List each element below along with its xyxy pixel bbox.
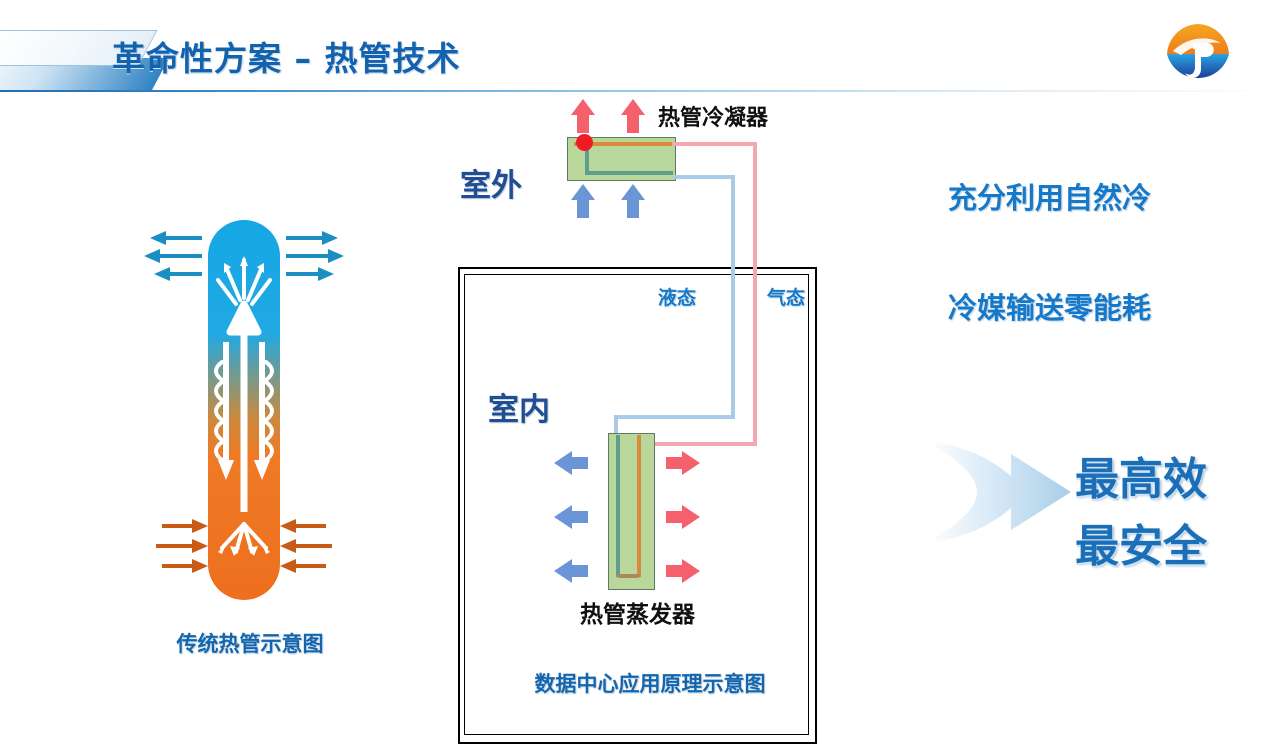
evaporator-gas-pipe	[637, 435, 641, 577]
liquid-pipe-lower-run	[614, 415, 735, 419]
conclusion-arrow-icon	[925, 432, 1075, 552]
conclusion-line-1: 最高效	[1075, 443, 1207, 507]
center-diagram-caption: 数据中心应用原理示意图	[440, 668, 860, 698]
gas-state-label: 气态	[767, 283, 805, 310]
traditional-heat-pipe-figure	[130, 212, 370, 612]
benefit-point-2: 冷媒输送零能耗	[948, 285, 1151, 327]
condenser-inlet-marker	[576, 134, 593, 151]
liquid-state-label: 液态	[658, 283, 696, 310]
liquid-pipe-top-run	[673, 175, 735, 179]
gas-pipe-vertical-outer	[753, 142, 757, 446]
evaporator-cold-out-arrows-icon	[550, 445, 606, 595]
datacenter-principle-diagram: 热管冷凝器 室外 室内 液态 气态 热管蒸发器	[440, 90, 860, 670]
slide-header: 革命性方案 – 热管技术	[0, 0, 1280, 95]
condenser-hot-arrows-icon	[565, 95, 665, 135]
company-globe-logo	[1163, 21, 1233, 91]
condenser-cold-arrows-icon	[565, 182, 665, 220]
evaporator-hot-in-arrows-icon	[656, 445, 712, 595]
conclusion-line-2: 最安全	[1075, 510, 1207, 574]
evaporator-liquid-pipe	[616, 435, 620, 577]
benefit-point-1: 充分利用自然冷	[948, 175, 1151, 217]
outdoor-label: 室外	[460, 160, 522, 205]
page-title: 革命性方案 – 热管技术	[112, 32, 460, 80]
evaporator-u-bend	[616, 574, 641, 578]
slide-root: 革命性方案 – 热管技术	[0, 0, 1280, 720]
liquid-pipe-vertical-outer	[731, 175, 735, 419]
evaporator-label: 热管蒸发器	[580, 595, 695, 629]
condenser-liquid-pipe-horizontal	[585, 171, 673, 175]
left-figure-caption: 传统热管示意图	[115, 628, 385, 658]
indoor-label: 室内	[488, 384, 550, 429]
gas-pipe-top-run	[672, 142, 757, 146]
condenser-label: 热管冷凝器	[658, 100, 768, 132]
